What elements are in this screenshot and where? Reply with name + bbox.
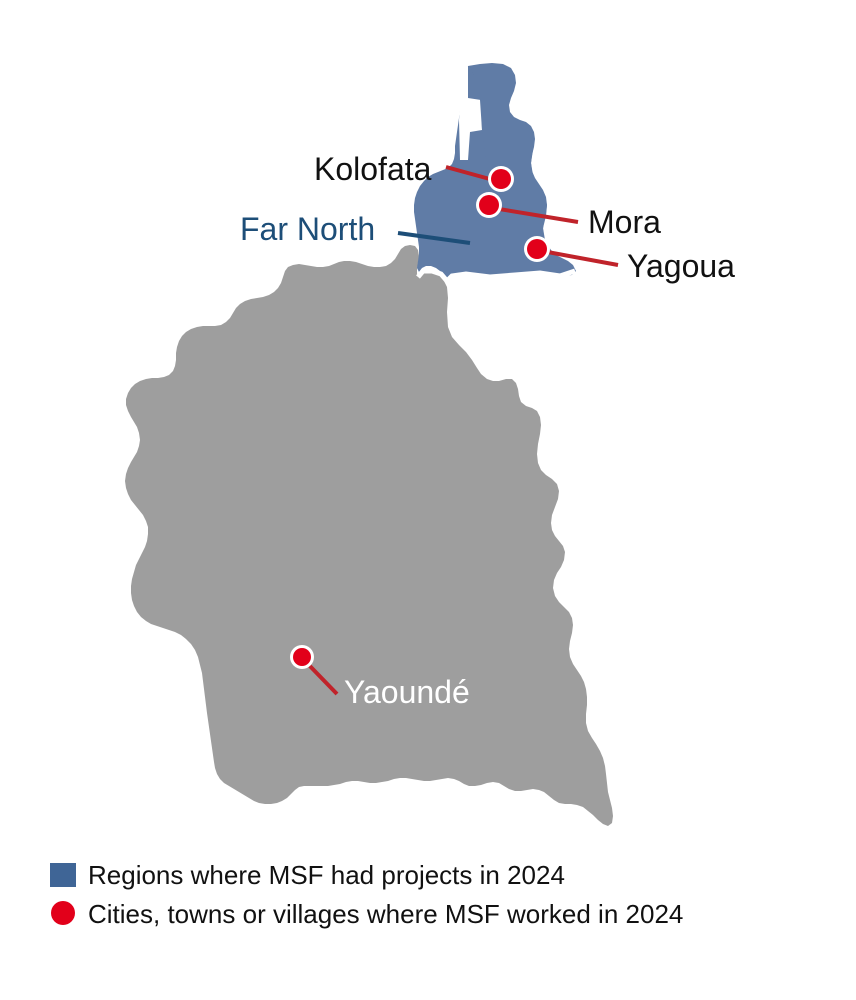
region-shape-other [125, 245, 613, 826]
city-label-yaounde: Yaoundé [344, 674, 470, 710]
legend-swatch-region [50, 863, 76, 887]
map-canvas: Far North [0, 0, 856, 1000]
legend-label-city: Cities, towns or villages where MSF work… [88, 899, 683, 929]
city-label-mora: Mora [588, 204, 661, 240]
marker-dot-yaounde[interactable] [293, 648, 311, 666]
cameroon-msf-map: Far North [0, 0, 856, 1000]
region-label-text-far-north: Far North [240, 211, 375, 247]
marker-dot-yagoua[interactable] [527, 239, 547, 259]
legend-swatch-city [51, 901, 75, 925]
city-marker-yaounde[interactable] [290, 645, 314, 669]
map-legend: Regions where MSF had projects in 2024 C… [50, 860, 683, 929]
city-marker-yagoua[interactable] [524, 236, 550, 262]
city-marker-mora[interactable] [476, 192, 502, 218]
legend-item-regions: Regions where MSF had projects in 2024 [50, 860, 565, 890]
city-label-yagoua: Yagoua [627, 248, 735, 284]
marker-dot-kolofata[interactable] [491, 169, 511, 189]
marker-dot-mora[interactable] [479, 195, 499, 215]
legend-item-cities: Cities, towns or villages where MSF work… [51, 899, 683, 929]
city-label-kolofata: Kolofata [314, 151, 432, 187]
legend-label-region: Regions where MSF had projects in 2024 [88, 860, 565, 890]
city-marker-kolofata[interactable] [488, 166, 514, 192]
country-base-regions [125, 245, 613, 826]
